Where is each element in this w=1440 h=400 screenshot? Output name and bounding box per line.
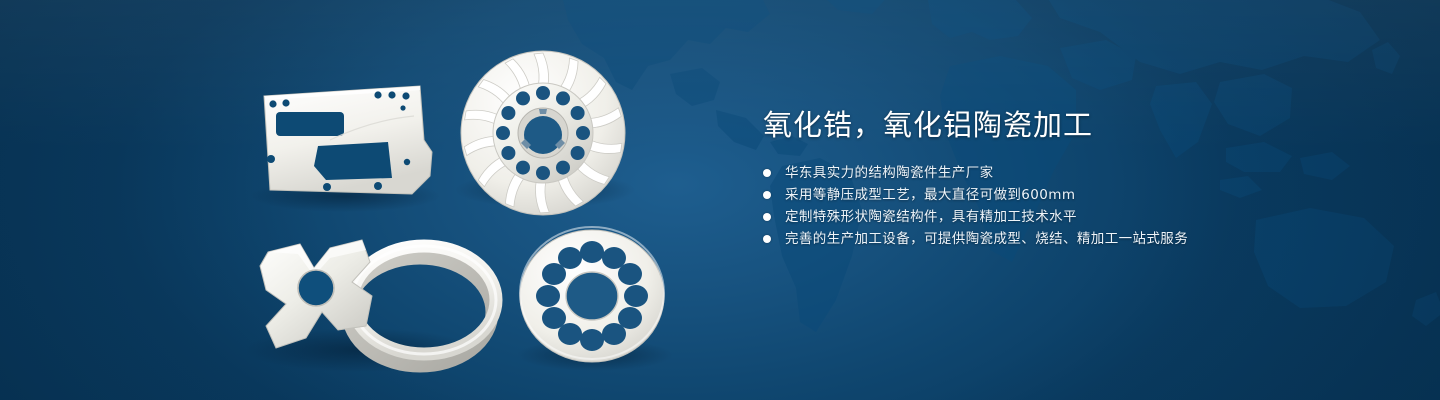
ceramic-impeller-part	[461, 51, 625, 215]
hero-banner: 氧化锆，氧化铝陶瓷加工 华东具实力的结构陶瓷件生产厂家 采用等静压成型工艺，最大…	[0, 0, 1440, 400]
feature-text: 华东具实力的结构陶瓷件生产厂家	[785, 162, 994, 184]
list-item: 采用等静压成型工艺，最大直径可做到600mm	[763, 184, 1403, 206]
feature-text: 定制特殊形状陶瓷结构件，具有精加工技术水平	[785, 206, 1077, 228]
feature-text: 完善的生产加工设备，可提供陶瓷成型、烧结、精加工一站式服务	[785, 228, 1188, 250]
ceramic-parts-photo	[0, 0, 740, 400]
bullet-dot-icon	[763, 213, 771, 221]
bullet-dot-icon	[763, 235, 771, 243]
bullet-dot-icon	[763, 169, 771, 177]
ceramic-perforated-disc-part	[520, 227, 664, 362]
list-item: 定制特殊形状陶瓷结构件，具有精加工技术水平	[763, 206, 1403, 228]
bullet-dot-icon	[763, 191, 771, 199]
list-item: 完善的生产加工设备，可提供陶瓷成型、烧结、精加工一站式服务	[763, 228, 1403, 250]
banner-text-column: 氧化锆，氧化铝陶瓷加工 华东具实力的结构陶瓷件生产厂家 采用等静压成型工艺，最大…	[763, 104, 1403, 250]
ceramic-plate-part	[264, 86, 432, 194]
feature-text: 采用等静压成型工艺，最大直径可做到600mm	[785, 184, 1075, 206]
feature-list: 华东具实力的结构陶瓷件生产厂家 采用等静压成型工艺，最大直径可做到600mm 定…	[763, 162, 1403, 250]
list-item: 华东具实力的结构陶瓷件生产厂家	[763, 162, 1403, 184]
page-title: 氧化锆，氧化铝陶瓷加工	[763, 104, 1403, 146]
